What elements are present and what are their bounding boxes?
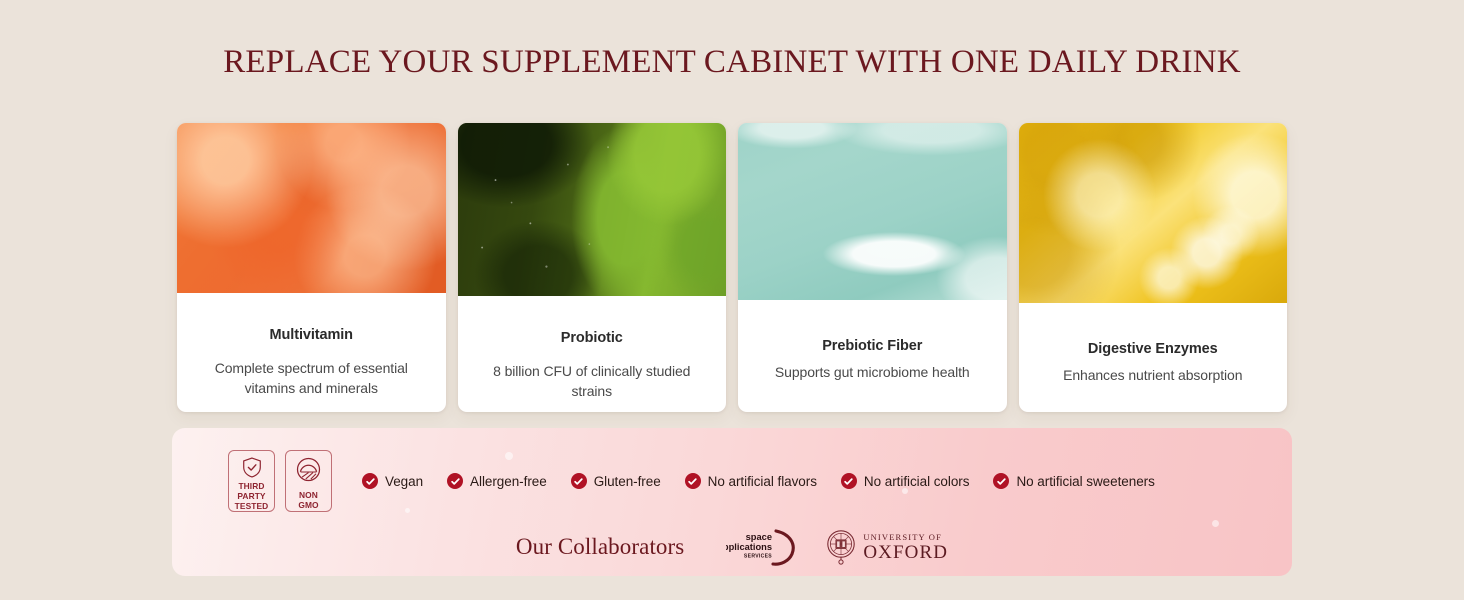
oxford-line-oxford: OXFORD bbox=[863, 542, 948, 563]
benefit-card-title: Probiotic bbox=[561, 330, 623, 346]
check-circle-icon bbox=[685, 473, 701, 489]
benefit-card-title: Multivitamin bbox=[270, 327, 353, 343]
claim-item-gluten-free: Gluten-free bbox=[571, 473, 661, 489]
benefit-card-body: Digestive Enzymes Enhances nutrient abso… bbox=[1019, 303, 1288, 412]
claim-item-no-artificial-colors: No artificial colors bbox=[841, 473, 970, 489]
oxford-wordmark: UNIVERSITY OF OXFORD bbox=[863, 532, 948, 563]
seal-non-gmo: NONGMO bbox=[285, 450, 332, 512]
claims-list: Vegan Allergen-free Gluten-free bbox=[362, 473, 1155, 489]
benefit-card-title: Digestive Enzymes bbox=[1088, 341, 1218, 357]
claim-label: Gluten-free bbox=[594, 474, 661, 489]
benefit-card-body: Probiotic 8 billion CFU of clinically st… bbox=[458, 296, 727, 412]
benefit-card-multivitamin[interactable]: Multivitamin Complete spectrum of essent… bbox=[177, 123, 446, 412]
benefit-card-description: Enhances nutrient absorption bbox=[1063, 366, 1242, 386]
logo-line-3: SERVICES bbox=[744, 554, 772, 560]
page-title: REPLACE YOUR SUPPLEMENT CABINET WITH ONE… bbox=[0, 44, 1464, 81]
claim-label: No artificial sweeteners bbox=[1016, 474, 1154, 489]
certifications-panel: THIRDPARTYTESTED NONGMO bbox=[172, 428, 1292, 576]
claim-item-no-artificial-flavors: No artificial flavors bbox=[685, 473, 817, 489]
logo-line-1: space bbox=[746, 532, 772, 542]
claim-label: Vegan bbox=[385, 474, 423, 489]
golden-oil-texture-image bbox=[1019, 123, 1288, 303]
seal-label: THIRDPARTYTESTED bbox=[235, 481, 269, 511]
benefit-card-probiotic[interactable]: Probiotic 8 billion CFU of clinically st… bbox=[458, 123, 727, 412]
check-circle-icon bbox=[993, 473, 1009, 489]
claim-item-allergen-free: Allergen-free bbox=[447, 473, 547, 489]
collaborators-row: Our Collaborators space applications SER… bbox=[172, 528, 1292, 566]
check-circle-icon bbox=[571, 473, 587, 489]
benefit-card-prebiotic-fiber[interactable]: Prebiotic Fiber Supports gut microbiome … bbox=[738, 123, 1007, 412]
benefit-card-row: Multivitamin Complete spectrum of essent… bbox=[177, 123, 1287, 412]
space-applications-services-logo[interactable]: space applications SERVICES bbox=[726, 528, 800, 566]
benefit-card-body: Prebiotic Fiber Supports gut microbiome … bbox=[738, 300, 1007, 412]
university-of-oxford-logo[interactable]: UNIVERSITY OF OXFORD bbox=[826, 529, 948, 565]
claim-label: Allergen-free bbox=[470, 474, 547, 489]
claim-label: No artificial flavors bbox=[708, 474, 817, 489]
orange-powder-texture-image bbox=[177, 123, 446, 293]
teal-liquid-texture-image bbox=[738, 123, 1007, 300]
benefit-card-body: Multivitamin Complete spectrum of essent… bbox=[177, 293, 446, 412]
benefit-card-description: Complete spectrum of essential vitamins … bbox=[193, 359, 430, 398]
benefit-card-description: 8 billion CFU of clinically studied stra… bbox=[474, 362, 711, 401]
claim-item-vegan: Vegan bbox=[362, 473, 423, 489]
seal-label: NONGMO bbox=[298, 490, 318, 510]
badges-row: THIRDPARTYTESTED NONGMO bbox=[172, 450, 1292, 512]
claim-item-no-artificial-sweeteners: No artificial sweeteners bbox=[993, 473, 1154, 489]
claim-label: No artificial colors bbox=[864, 474, 970, 489]
check-circle-icon bbox=[447, 473, 463, 489]
check-circle-icon bbox=[362, 473, 378, 489]
seal-third-party-tested: THIRDPARTYTESTED bbox=[228, 450, 275, 512]
supplement-benefits-section: REPLACE YOUR SUPPLEMENT CABINET WITH ONE… bbox=[0, 0, 1464, 600]
logo-line-2: applications bbox=[726, 542, 772, 552]
collaborators-title: Our Collaborators bbox=[516, 534, 684, 560]
check-circle-icon bbox=[841, 473, 857, 489]
decorative-sparkle bbox=[1212, 520, 1219, 527]
oxford-line-university: UNIVERSITY OF bbox=[863, 532, 948, 542]
benefit-card-description: Supports gut microbiome health bbox=[775, 363, 970, 383]
green-leaf-texture-image bbox=[458, 123, 727, 296]
benefit-card-digestive-enzymes[interactable]: Digestive Enzymes Enhances nutrient abso… bbox=[1019, 123, 1288, 412]
non-gmo-circle-icon bbox=[295, 456, 322, 483]
oxford-crest-icon bbox=[826, 529, 856, 565]
benefit-card-title: Prebiotic Fiber bbox=[822, 338, 922, 354]
shield-check-icon bbox=[239, 456, 265, 479]
